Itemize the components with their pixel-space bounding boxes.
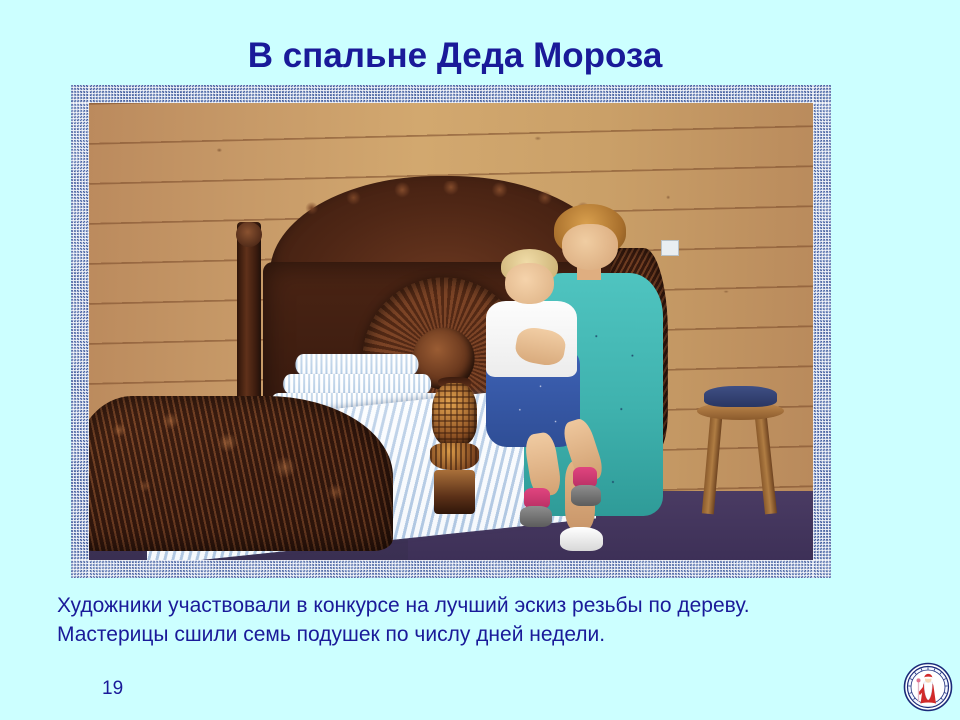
ded-moroz-logo [903,662,953,712]
lantern-base [434,470,475,514]
caption-line-2: Мастерицы сшили семь подушек по числу дн… [57,620,917,649]
woman-shoe [560,527,603,551]
page-number: 19 [102,678,123,700]
ded-moroz-emblem-icon [903,662,953,712]
photo-image [89,103,813,560]
caption-line-1: Художники участвовали в конкурсе на лучш… [57,591,917,620]
pillow [295,354,418,375]
child-shoe [520,506,552,527]
page-title: В спальне Деда Мороза [0,36,910,76]
pillow [283,374,431,395]
lantern-globe [432,383,477,446]
caption-block: Художники участвовали в конкурсе на лучш… [57,591,917,649]
child-shoe-second [571,485,601,506]
wooden-stool [697,386,784,514]
child-head [505,263,554,305]
photo-frame [71,85,831,578]
carved-footboard [89,396,393,551]
lantern-middle [430,443,479,470]
carved-lantern [429,377,480,514]
headboard-post-knob [236,222,262,247]
slide-root: В спальне Деда Мороза [0,0,960,720]
stool-leg [755,417,777,515]
woman-head [562,224,618,269]
woman-and-child [509,204,697,551]
footboard-scrolls [89,396,393,551]
stool-leg [702,417,723,515]
folded-cloth [704,386,777,406]
